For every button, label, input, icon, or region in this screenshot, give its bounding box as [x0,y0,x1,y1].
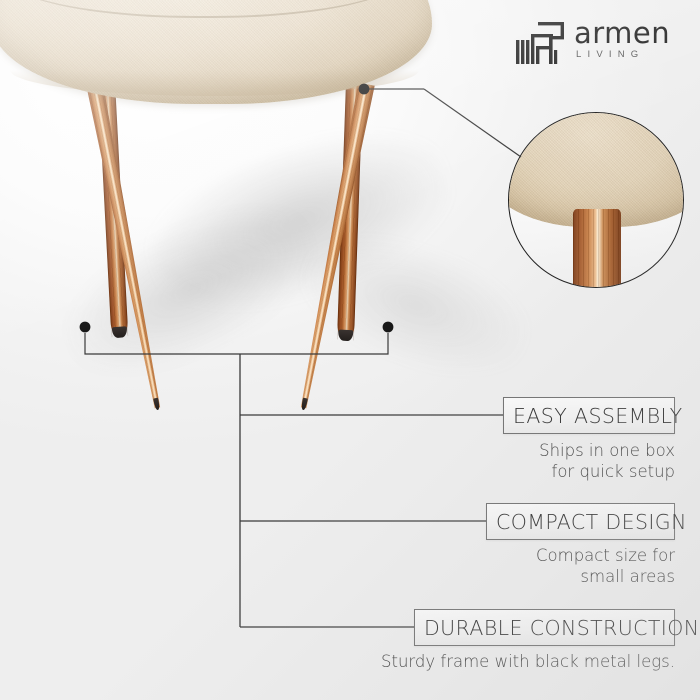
callout-box-compact-design[interactable]: COMPACT DESIGN [486,503,675,540]
bracket-between-legs [85,333,388,354]
armen-chair-logomark-icon [516,20,572,64]
callout-subtitle-durable-construction: Sturdy frame with black metal legs. [375,651,675,672]
brand-logo: armen LIVING [516,20,676,68]
leader-line-detail-diagonal [424,89,521,157]
callout-dot-seat-joint [359,84,370,95]
callout-title-durable-construction: DURABLE CONSTRUCTION [415,616,700,640]
callout-title-easy-assembly: EASY ASSEMBLY [504,404,692,428]
callout-box-durable-construction[interactable]: DURABLE CONSTRUCTION [414,609,675,646]
callout-title-compact-design: COMPACT DESIGN [487,510,696,534]
callout-dot-left-leg [80,322,91,333]
callout-dot-right-leg [383,322,394,333]
infographic-canvas: armen LIVING EASY ASSEMBLY Ships in one … [0,0,700,700]
callout-box-easy-assembly[interactable]: EASY ASSEMBLY [503,397,675,434]
callout-subtitle-compact-design: Compact size for small areas [395,545,675,587]
callout-connector-lines [0,0,700,700]
brand-tagline: LIVING [576,49,644,60]
brand-wordmark: armen [574,18,670,48]
callout-subtitle-easy-assembly: Ships in one box for quick setup [395,440,675,482]
